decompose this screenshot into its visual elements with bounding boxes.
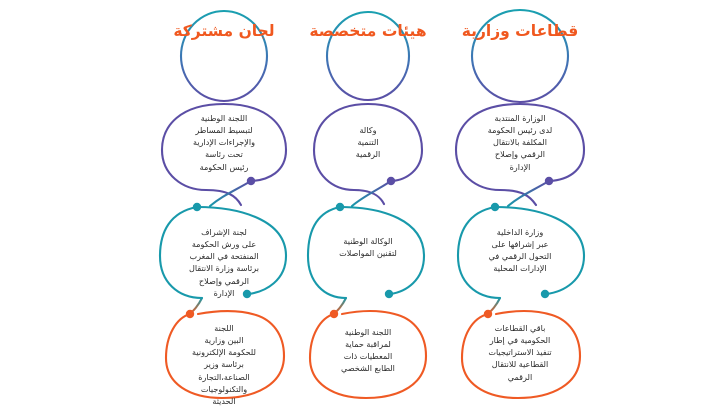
node-label-remaining-government-sectors: باقي القطاعات الحكومية في إطار تنفيذ الا… (400, 322, 640, 383)
node-line: الرقمي وإصلاح (400, 148, 640, 160)
column-ministerial-sectors: قطاعات وزارية الوزارة المنتدبة لدى رئيس … (400, 0, 640, 405)
node-label-delegate-ministry-digital-transition: الوزارة المنتدبة لدى رئيس الحكومة المكلف… (400, 112, 640, 173)
header-line-1: قطاعات (515, 22, 578, 40)
node-line: الحكومية في إطار (400, 334, 640, 346)
header-line-2: وزارية (462, 22, 510, 40)
node-line: تنفيذ الاستراتيجيات (400, 346, 640, 358)
diagram-canvas: لجان مشتركة اللجنة الوطنية لتبسيط المساط… (0, 0, 720, 405)
node-line: باقي القطاعات (400, 322, 640, 334)
node-line: لدى رئيس الحكومة (400, 124, 640, 136)
node-line: الوزارة المنتدبة (400, 112, 640, 124)
node-line: الإدارات المحلية (400, 262, 640, 274)
node-line: الإدارة (400, 161, 640, 173)
node-line: الرقمي (400, 371, 640, 383)
node-line: عبر إشرافها على (400, 238, 640, 250)
column-header-ministerial-sectors: قطاعات وزارية (400, 22, 640, 41)
header-line-2: متخصصة (309, 22, 376, 40)
node-line: وزارة الداخلية (400, 226, 640, 238)
node-label-ministry-of-interior: وزارة الداخلية عبر إشرافها على التحول ال… (400, 226, 640, 275)
node-line: التحول الرقمي في (400, 250, 640, 262)
header-line-2: مشتركة (173, 22, 233, 40)
node-line: القطاعية للانتقال (400, 358, 640, 370)
node-line: المكلفة بالانتقال (400, 136, 640, 148)
